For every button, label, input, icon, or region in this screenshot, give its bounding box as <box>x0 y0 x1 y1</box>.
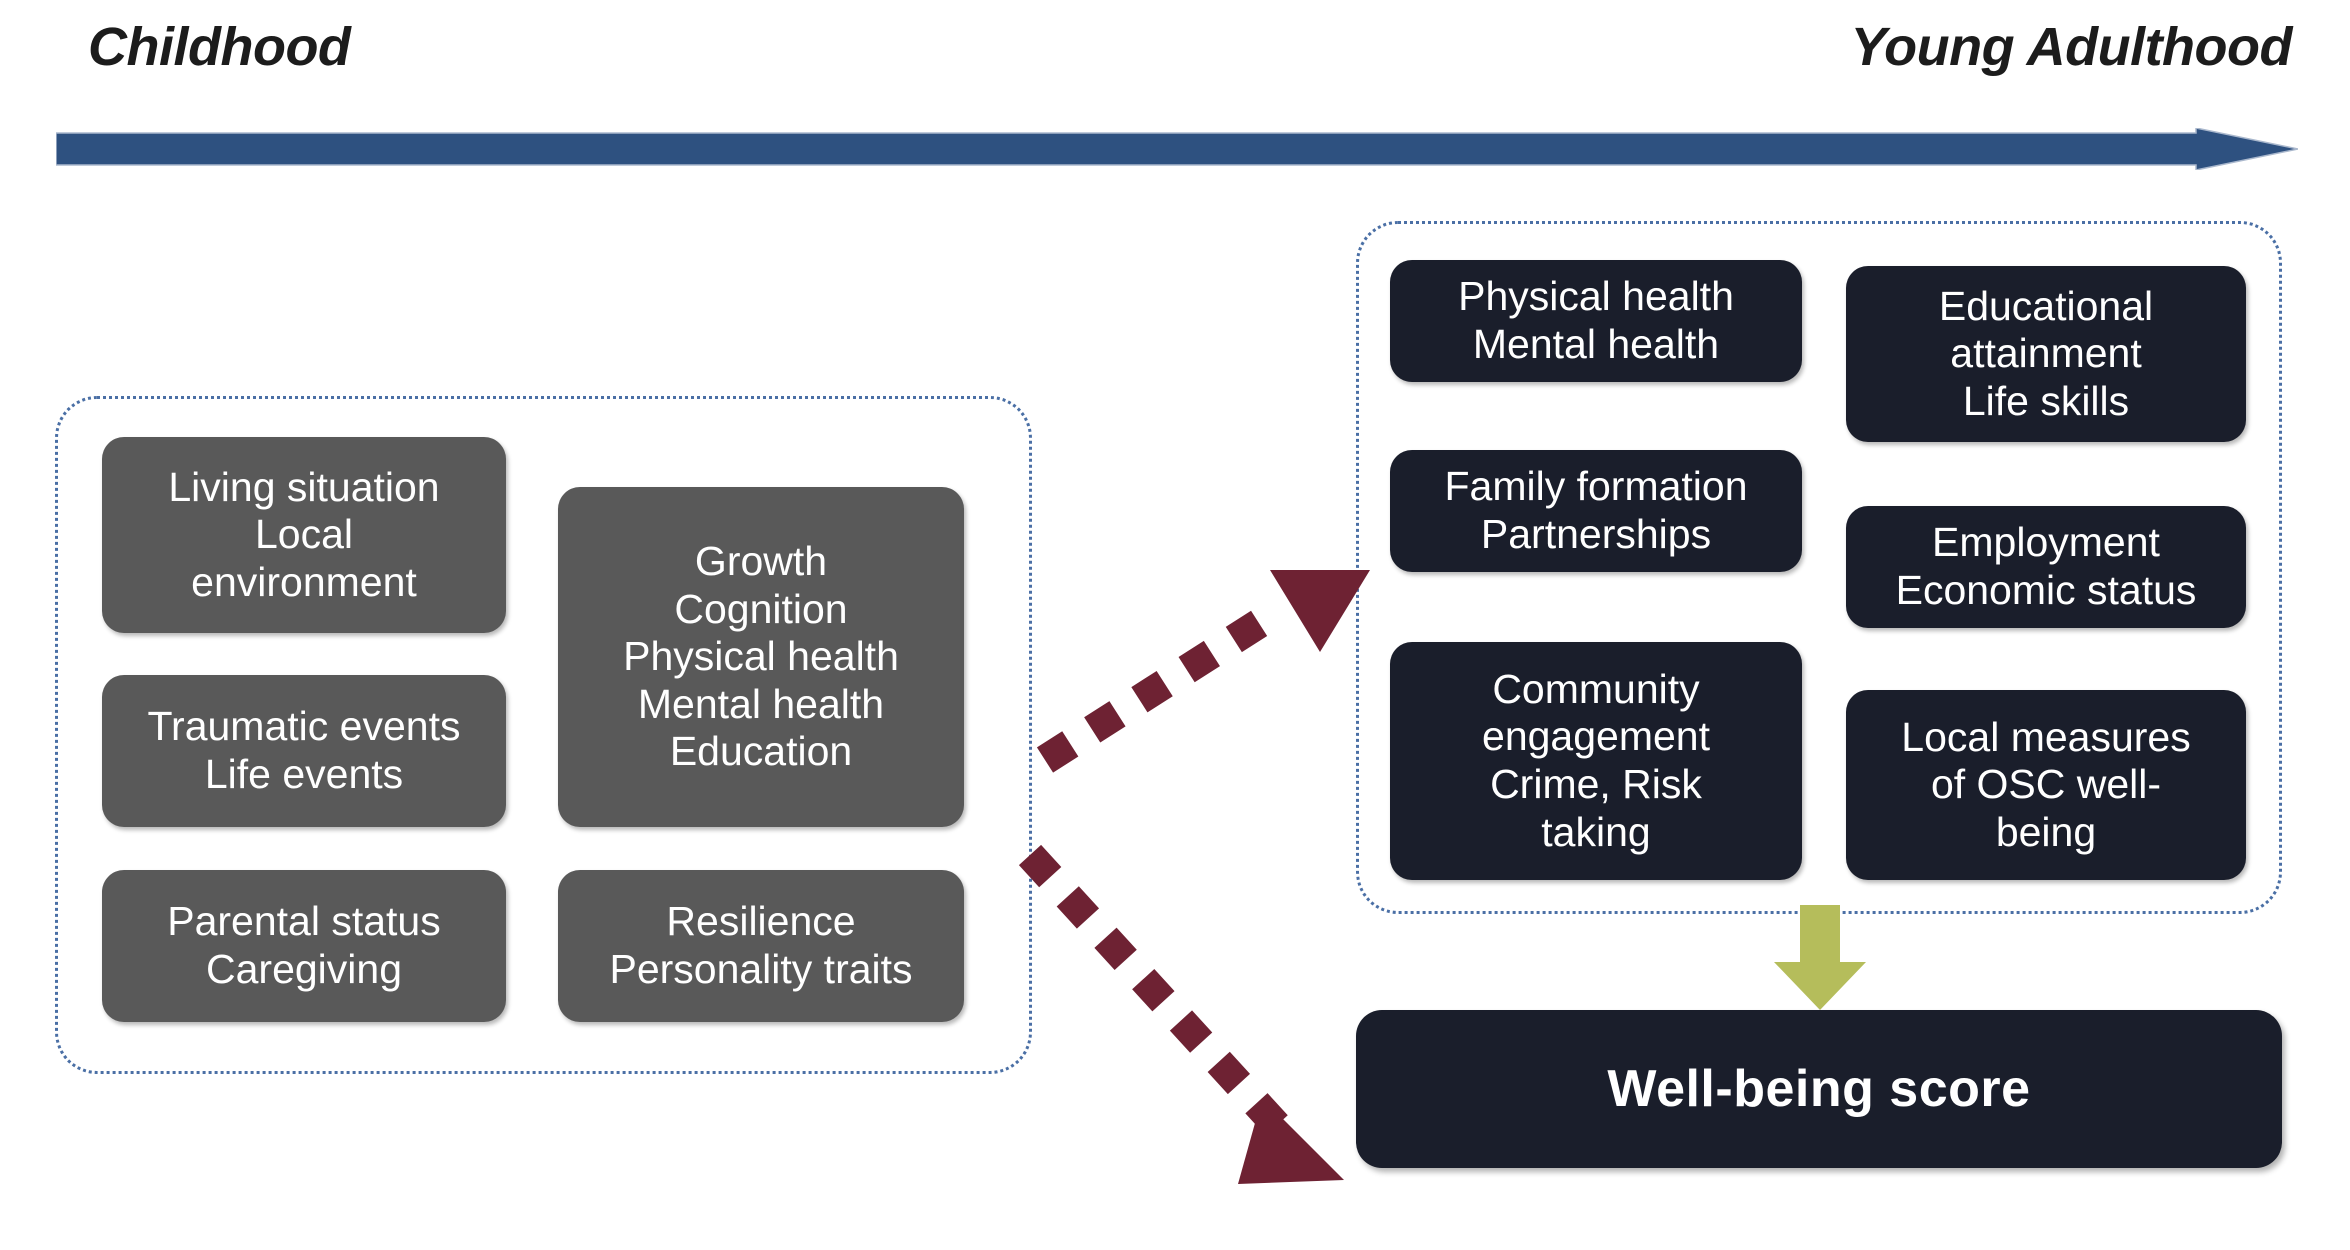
node-traumatic-events[interactable]: Traumatic events Life events <box>102 675 506 827</box>
node-growth-cognition[interactable]: Growth Cognition Physical health Mental … <box>558 487 964 827</box>
node-local-measures-osc-wellbeing[interactable]: Local measures of OSC well- being <box>1846 690 2246 880</box>
timeline-arrow-icon <box>56 128 2298 170</box>
node-physical-mental-health[interactable]: Physical health Mental health <box>1390 260 1802 382</box>
node-well-being-score[interactable]: Well-being score <box>1356 1010 2282 1168</box>
node-community-engagement[interactable]: Community engagement Crime, Risk taking <box>1390 642 1802 880</box>
node-employment[interactable]: Employment Economic status <box>1846 506 2246 628</box>
dashed-arrow-to-wellbeing-score <box>1030 855 1344 1184</box>
node-family-formation[interactable]: Family formation Partnerships <box>1390 450 1802 572</box>
timeline-end-label: Young Adulthood <box>1851 16 2292 78</box>
node-parental-status[interactable]: Parental status Caregiving <box>102 870 506 1022</box>
diagram-canvas: Childhood Young Adulthood Living situati… <box>0 0 2350 1250</box>
dashed-arrow-to-young-adulthood <box>1045 570 1370 760</box>
solid-arrow-to-wellbeing-score <box>1774 905 1866 1010</box>
node-educational-attainment[interactable]: Educational attainment Life skills <box>1846 266 2246 442</box>
node-resilience[interactable]: Resilience Personality traits <box>558 870 964 1022</box>
timeline-start-label: Childhood <box>88 16 350 78</box>
node-living-situation[interactable]: Living situation Local environment <box>102 437 506 633</box>
